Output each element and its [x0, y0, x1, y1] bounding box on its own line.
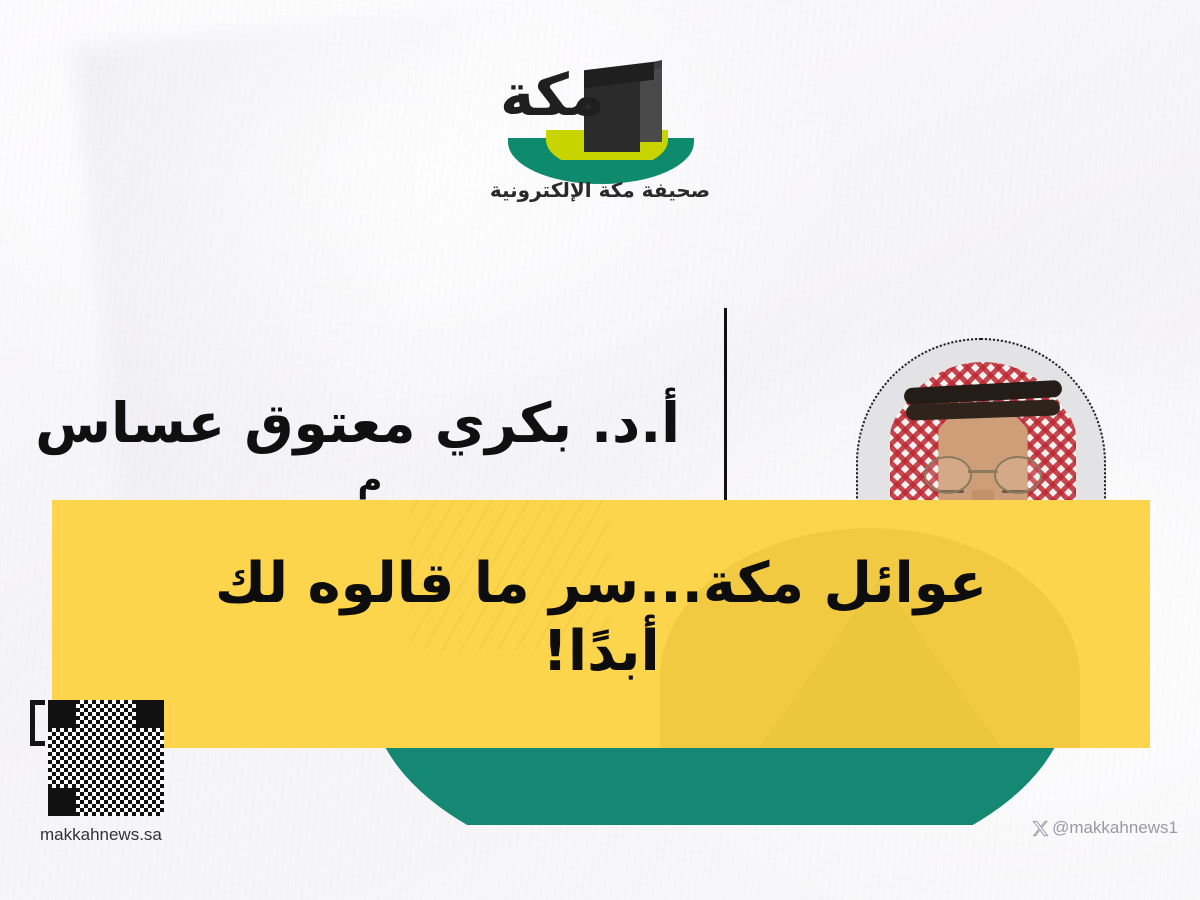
social-handle[interactable]: @makkahnews1 [1032, 818, 1178, 838]
scan-bracket-icon [30, 700, 45, 746]
logo-wordmark: مكة [500, 66, 605, 124]
logo-caption: صحيفة مكة الإلكترونية [480, 178, 720, 202]
speaker-name: أ.د. بكري معتوق عساس [60, 392, 680, 455]
site-url[interactable]: makkahnews.sa [40, 825, 164, 845]
speaker-name-second-line: م [60, 462, 680, 499]
eyeglasses-icon [924, 456, 1042, 490]
qr-code-icon[interactable] [48, 700, 164, 816]
x-twitter-icon [1032, 820, 1049, 837]
headline-text: عوائل مكة...سر ما قالوه لك أبدًا! [52, 550, 1150, 687]
social-handle-text: @makkahnews1 [1052, 818, 1178, 838]
news-card: مكة صحيفة مكة الإلكترونية أ.د. بكري معتو… [0, 0, 1200, 900]
qr-block[interactable]: makkahnews.sa [40, 700, 164, 845]
vertical-divider [724, 308, 727, 508]
headline-line-2: أبدًا! [90, 618, 1112, 686]
logo-mark: مكة [480, 42, 720, 172]
makkah-logo[interactable]: مكة صحيفة مكة الإلكترونية [480, 42, 720, 217]
headline-banner: عوائل مكة...سر ما قالوه لك أبدًا! [52, 500, 1150, 748]
headline-line-1: عوائل مكة...سر ما قالوه لك [90, 550, 1112, 618]
